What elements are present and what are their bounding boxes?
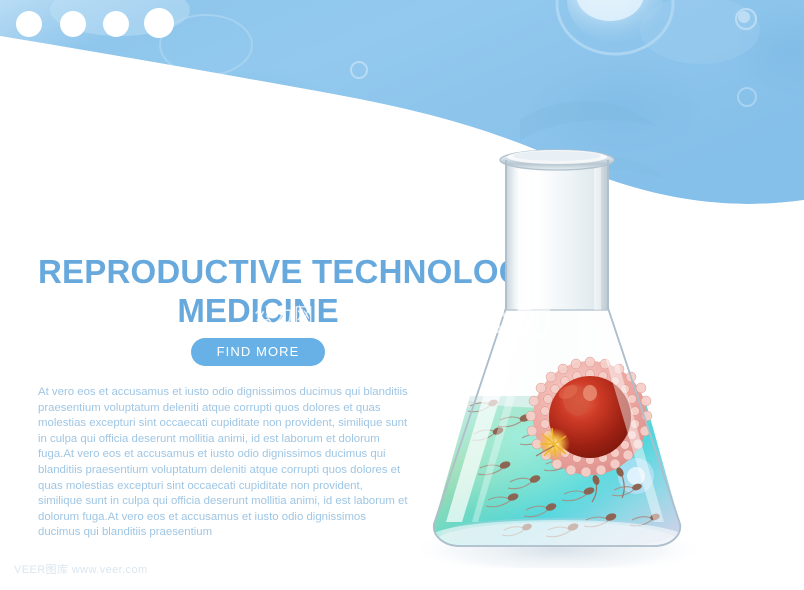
fertilization-flash-icon (538, 428, 570, 460)
wave-dot (144, 8, 174, 38)
flask-rim (500, 150, 614, 170)
bubble-tiny-icon (351, 62, 367, 78)
hero-body-text: At vero eos et accusamus et iusto odio d… (38, 385, 408, 541)
bubble-tiny-icon-2 (738, 88, 756, 106)
cta-container: FIND MORE (38, 338, 478, 366)
wave-dot (60, 11, 86, 37)
banner-canvas: REPRODUCTIVE TECHNOLOGY MEDICINE FIND MO… (0, 0, 804, 590)
bubble-small-icon (736, 9, 756, 29)
page-title-line-2: MEDICINE (38, 291, 478, 331)
erlenmeyer-flask-illustration (418, 138, 718, 568)
watermark-footer: VEER图库 www.veer.com (14, 561, 148, 577)
wave-dot (16, 11, 42, 37)
wave-dot (103, 11, 129, 37)
bubble-large-icon (557, 0, 673, 54)
wave-dot-row (16, 8, 174, 38)
bubble-faint-icon (160, 15, 252, 75)
find-more-button[interactable]: FIND MORE (191, 338, 326, 366)
